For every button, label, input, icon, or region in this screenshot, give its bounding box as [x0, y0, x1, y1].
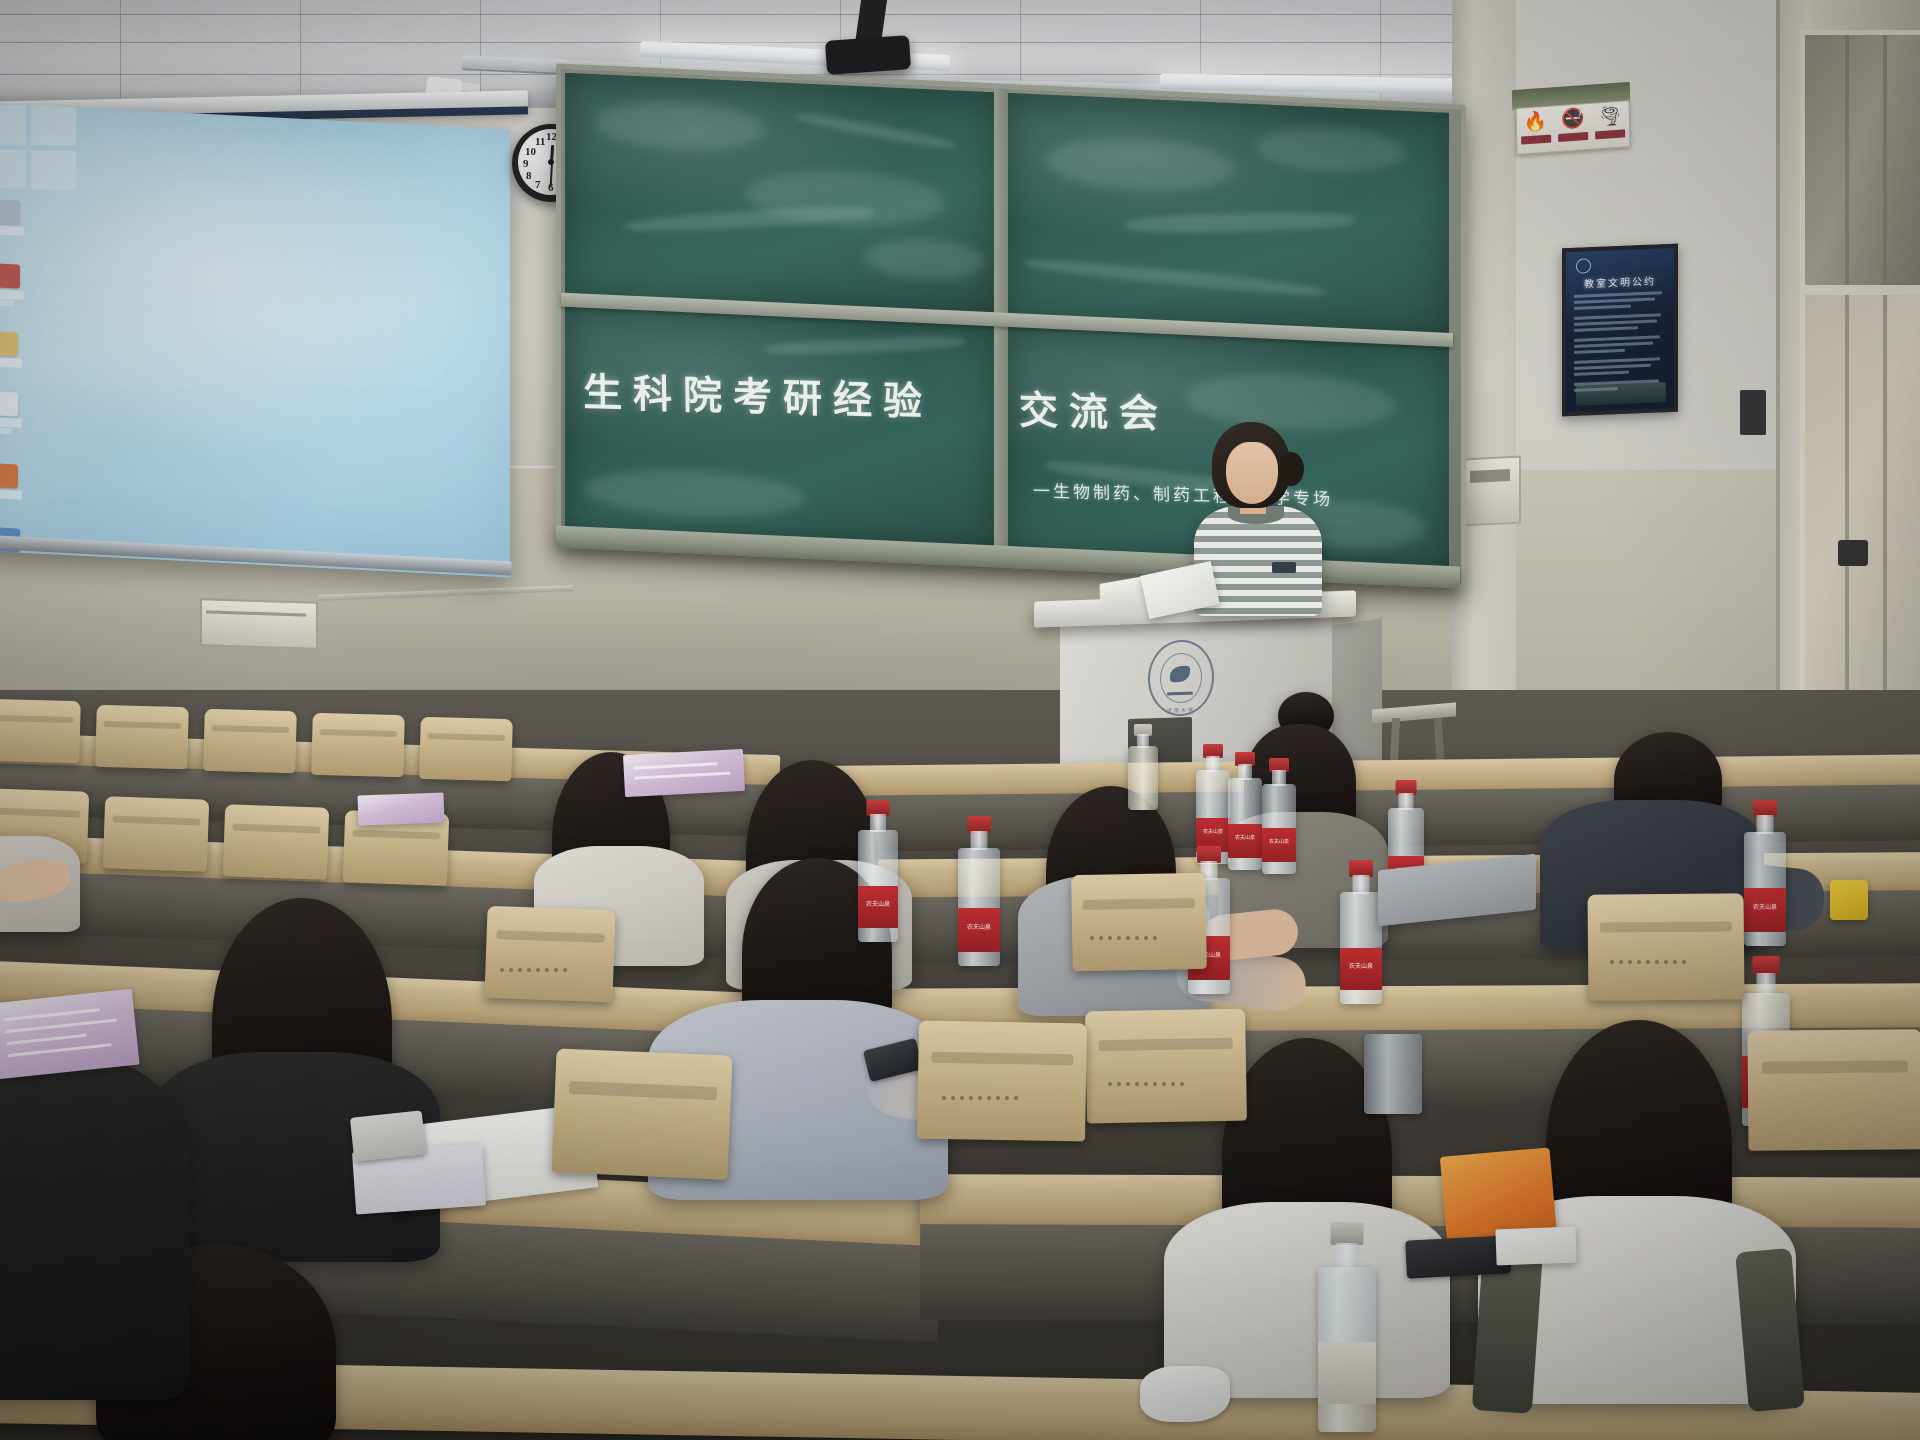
door-lock[interactable] [1838, 540, 1868, 566]
water-bottle[interactable]: 农夫山泉 [958, 816, 1000, 966]
no-smoking-icon: 🚭 [1558, 107, 1589, 142]
wall-control-box[interactable] [1463, 455, 1521, 526]
chair-backrest [1588, 893, 1745, 1000]
smartphone[interactable] [350, 1110, 426, 1161]
crest-base-line [1167, 692, 1193, 696]
fire-safety-sign: 🔥 🚭 🌪 [1516, 100, 1631, 155]
ceiling-projector [825, 35, 911, 75]
chair-vent-holes [1610, 960, 1686, 964]
clock-numeral: 7 [535, 180, 541, 191]
classroom-pledge-poster: 教室文明公约 [1562, 244, 1678, 417]
bottle-brand-text: 农夫山泉 [958, 922, 1000, 931]
clock-numeral: 10 [525, 147, 536, 158]
clock-numeral: 11 [535, 137, 545, 148]
clock-numeral: 9 [523, 159, 529, 170]
water-bottle[interactable]: 农夫山泉 [1744, 800, 1786, 946]
pledge-poster-title: 教室文明公约 [1574, 272, 1666, 291]
crest-label: 济南大学 [1161, 706, 1201, 714]
chair-backrest [1071, 873, 1207, 971]
chair-backrest [223, 804, 329, 880]
chair-vent-holes [942, 1096, 1018, 1100]
chair-backrest [484, 906, 615, 1002]
desktop-icon-folder[interactable] [0, 331, 22, 368]
blackboard-panel-upper-left [565, 73, 997, 315]
bottle-brand-text: 农夫山泉 [1340, 961, 1382, 970]
chair-backrest [0, 699, 81, 763]
bottle-brand-text: 农夫山泉 [1196, 828, 1230, 835]
crumpled-tissue[interactable] [1140, 1366, 1230, 1422]
door-transom-window [1800, 30, 1920, 290]
water-bottle[interactable] [1128, 724, 1158, 810]
chair-vent-holes [1090, 936, 1157, 940]
bottle-brand-text: 农夫山泉 [1262, 838, 1296, 845]
chair-backrest [1747, 1029, 1920, 1151]
chair-vent-holes [500, 968, 567, 972]
desktop-icon-recycle-bin[interactable] [0, 199, 24, 236]
bottle-brand-text: 农夫山泉 [858, 899, 898, 908]
clock-center-pin [548, 159, 554, 165]
purple-flyer[interactable] [623, 749, 745, 797]
water-bottle[interactable]: 农夫山泉 [1340, 860, 1382, 1004]
clock-numeral: 8 [526, 171, 532, 182]
desktop-icon-text-document[interactable] [0, 391, 22, 435]
chair-backrest [419, 717, 513, 781]
bottle-brand-text: 农夫山泉 [1744, 902, 1786, 911]
lecture-hall-photo: 🔥 🚭 🌪 教室文明公约 [0, 0, 1920, 1440]
chair-vent-holes [1108, 1082, 1184, 1086]
blackboard-title-left: 生科院考研经验 [583, 362, 997, 431]
wall-box-slot [1470, 469, 1510, 483]
crest-wave-mark [1170, 666, 1190, 683]
university-crest-icon [1576, 258, 1591, 274]
chair-backrest [551, 1048, 732, 1179]
bottle-brand-text: 农夫山泉 [1228, 834, 1262, 841]
wall-access-panel[interactable] [200, 598, 318, 650]
fire-hose-icon: 🌪 [1595, 104, 1626, 139]
purple-flyer[interactable] [0, 989, 140, 1079]
fire-extinguisher-icon: 🔥 [1520, 110, 1551, 145]
chair-backrest [917, 1021, 1087, 1142]
yellow-object[interactable] [1830, 880, 1868, 920]
audience-torso [0, 1060, 190, 1400]
chair-backrest [1085, 1009, 1247, 1124]
water-bottle[interactable]: 农夫山泉 [858, 800, 898, 942]
desktop-icon-pdf-document[interactable] [0, 263, 24, 307]
windows-logo-icon [0, 105, 77, 191]
wall-switch-plate[interactable] [1740, 390, 1766, 435]
speaker-face [1226, 442, 1278, 504]
water-bottle[interactable] [1318, 1222, 1376, 1432]
chair-backrest [95, 705, 189, 769]
water-bottle[interactable]: 农夫山泉 [1228, 752, 1262, 870]
crest-inner-ring: 济南大学 [1160, 652, 1202, 703]
blackboard-panel-lower-left: 生科院考研经验 [565, 305, 997, 553]
water-bottle[interactable]: 农夫山泉 [1262, 758, 1296, 874]
poster-footer-image [1576, 382, 1666, 406]
thermos-cup[interactable] [1364, 1034, 1422, 1114]
speaker-hair-tie [1278, 452, 1304, 486]
projection-screen[interactable] [0, 103, 510, 578]
desktop-icon-media-player[interactable] [0, 463, 22, 500]
speaker-shirt-logo [1272, 562, 1296, 573]
chair-backrest [311, 713, 405, 777]
blackboard-panel-upper-right [1005, 93, 1449, 335]
purple-flyer[interactable] [358, 793, 445, 826]
notebook-page[interactable] [1495, 1227, 1576, 1266]
chair-backrest [103, 796, 209, 872]
blackboard: 生科院考研经验 交流会 一生物制药、制药工程、药学专场 [556, 63, 1466, 588]
chair-backrest [203, 709, 297, 773]
